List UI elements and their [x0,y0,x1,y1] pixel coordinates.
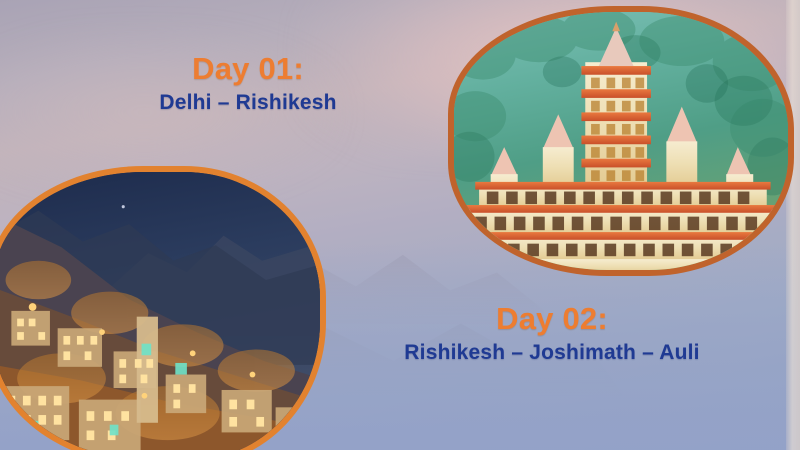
day-01-title: Day 01: [108,52,388,85]
background-right-edge-band [786,0,800,450]
day-01-text-block: Day 01: Delhi – Rishikesh [108,52,388,116]
town-photo-artwork [0,172,320,450]
day-02-route: Rishikesh – Joshimath – Auli [352,341,752,365]
day-02-title: Day 02: [352,302,752,335]
day-02-text-block: Day 02: Rishikesh – Joshimath – Auli [352,302,752,366]
day-01-route: Delhi – Rishikesh [108,91,388,115]
temple-photo [448,6,794,276]
town-photo [0,166,326,450]
travel-itinerary-slide: Day 01: Delhi – Rishikesh Day 02: Rishik… [0,0,800,450]
temple-photo-artwork [454,12,788,273]
